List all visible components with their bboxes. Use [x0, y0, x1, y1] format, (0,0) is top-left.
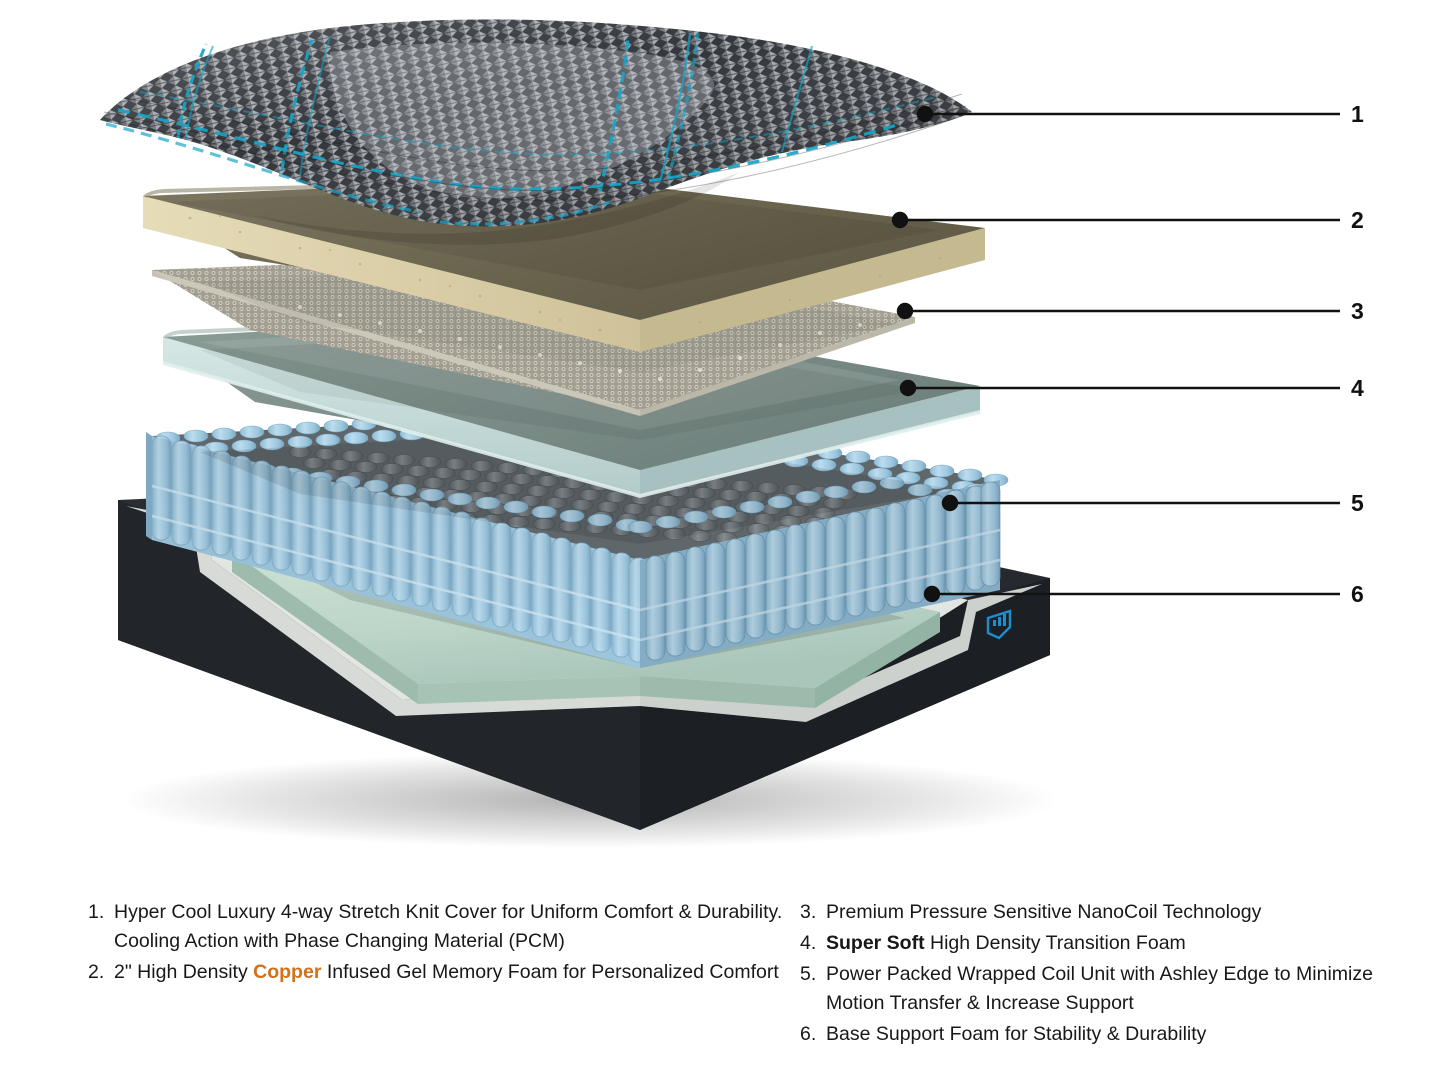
legend-item-number: 6. — [800, 1020, 826, 1049]
legend-right-column: 3.Premium Pressure Sensitive NanoCoil Te… — [800, 898, 1400, 1051]
mattress-layer-diagram-page: 1 2 3 4 5 6 1.Hyper Cool Luxury 4-way St… — [0, 0, 1445, 1084]
legend-item: 6.Base Support Foam for Stability & Dura… — [800, 1020, 1400, 1049]
callout-number-3: 3 — [1351, 300, 1364, 323]
legend-item-text: Power Packed Wrapped Coil Unit with Ashl… — [826, 960, 1400, 1018]
legend-item-text: Premium Pressure Sensitive NanoCoil Tech… — [826, 898, 1400, 927]
callout-number-4: 4 — [1351, 377, 1364, 400]
legend-item: 1.Hyper Cool Luxury 4-way Stretch Knit C… — [88, 898, 788, 956]
callout-number-5: 5 — [1351, 492, 1364, 515]
legend: 1.Hyper Cool Luxury 4-way Stretch Knit C… — [0, 898, 1445, 1084]
copper-highlight: Copper — [253, 961, 321, 983]
callout-number-1: 1 — [1351, 103, 1364, 126]
legend-item: 5.Power Packed Wrapped Coil Unit with As… — [800, 960, 1400, 1018]
legend-item-number: 4. — [800, 929, 826, 958]
legend-item-text: Base Support Foam for Stability & Durabi… — [826, 1020, 1400, 1049]
callout-number-6: 6 — [1351, 583, 1364, 606]
legend-item-number: 2. — [88, 958, 114, 987]
legend-item-text: Super Soft High Density Transition Foam — [826, 929, 1400, 958]
legend-item-text: 2" High Density Copper Infused Gel Memor… — [114, 958, 788, 987]
legend-item-text: Hyper Cool Luxury 4-way Stretch Knit Cov… — [114, 898, 788, 956]
legend-item-number: 1. — [88, 898, 114, 927]
legend-item-number: 5. — [800, 960, 826, 989]
legend-left-column: 1.Hyper Cool Luxury 4-way Stretch Knit C… — [88, 898, 788, 989]
legend-item: 2.2" High Density Copper Infused Gel Mem… — [88, 958, 788, 987]
legend-item: 4.Super Soft High Density Transition Foa… — [800, 929, 1400, 958]
exploded-diagram: 1 2 3 4 5 6 — [0, 0, 1445, 880]
legend-item: 3.Premium Pressure Sensitive NanoCoil Te… — [800, 898, 1400, 927]
callout-number-2: 2 — [1351, 209, 1364, 232]
legend-item-number: 3. — [800, 898, 826, 927]
